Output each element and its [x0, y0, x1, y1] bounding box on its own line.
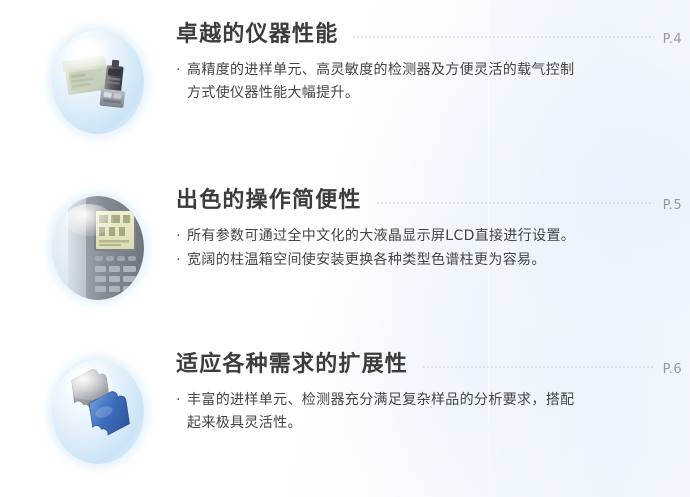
- feature-3-page-ref[interactable]: P.6: [663, 362, 682, 378]
- brochure-feature-list-page: 卓越的仪器性能 P.4 · 高精度的进样单元、高灵敏度的检测器及方便灵活的载气控…: [0, 0, 690, 497]
- list-item: · 所有参数可通过全中文化的大液晶显示屏LCD直接进行设置。: [176, 225, 682, 248]
- dotted-leader: [422, 360, 654, 374]
- feature-3-icon: [52, 360, 144, 464]
- bullet-line-1: 宽阔的柱温箱空间使安装更换各种类型色谱柱更为容易。: [187, 249, 682, 272]
- feature-1-bullets: · 高精度的进样单元、高灵敏度的检测器及方便灵活的载气控制 方式使仪器性能大幅提…: [176, 59, 682, 104]
- list-item: · 高精度的进样单元、高灵敏度的检测器及方便灵活的载气控制 方式使仪器性能大幅提…: [176, 59, 682, 104]
- icon-bubble: [52, 30, 144, 134]
- feature-1-heading-row: 卓越的仪器性能 P.4: [176, 22, 682, 48]
- feature-3-bullets: · 丰富的进样单元、检测器充分满足复杂样品的分析要求，搭配 起来极具灵活性。: [176, 389, 682, 434]
- bullet-marker: ·: [176, 59, 181, 82]
- feature-2-content: 出色的操作简便性 P.5 · 所有参数可通过全中文化的大液晶显示屏LCD直接进行…: [176, 188, 682, 273]
- feature-2-bullets: · 所有参数可通过全中文化的大液晶显示屏LCD直接进行设置。 · 宽阔的柱温箱空…: [176, 225, 682, 271]
- bullet-line-1: 丰富的进样单元、检测器充分满足复杂样品的分析要求，搭配: [187, 389, 682, 412]
- feature-2-heading-row: 出色的操作简便性 P.5: [176, 188, 682, 214]
- bullet-marker: ·: [176, 249, 181, 272]
- instrument-parts-photo-icon: [52, 30, 144, 134]
- list-item: · 丰富的进样单元、检测器充分满足复杂样品的分析要求，搭配 起来极具灵活性。: [176, 389, 682, 434]
- bullet-marker: ·: [176, 225, 181, 248]
- feature-3-content: 适应各种需求的扩展性 P.6 · 丰富的进样单元、检测器充分满足复杂样品的分析要…: [176, 352, 682, 436]
- bullet-line-1: 所有参数可通过全中文化的大液晶显示屏LCD直接进行设置。: [187, 225, 682, 248]
- feature-2-page-ref[interactable]: P.5: [663, 198, 682, 214]
- list-item: · 宽阔的柱温箱空间使安装更换各种类型色谱柱更为容易。: [176, 249, 682, 272]
- feature-1-page-ref[interactable]: P.4: [663, 32, 682, 48]
- feature-3-heading-row: 适应各种需求的扩展性 P.6: [176, 352, 682, 378]
- bullet-marker: ·: [176, 389, 181, 412]
- feature-3-title: 适应各种需求的扩展性: [176, 352, 408, 378]
- puzzle-pieces-photo-icon: [52, 360, 144, 464]
- dotted-leader: [376, 196, 654, 210]
- feature-2-title: 出色的操作简便性: [176, 188, 362, 214]
- feature-1-icon: [52, 30, 144, 134]
- icon-bubble: [52, 196, 144, 300]
- control-panel-lcd-photo-icon: [52, 196, 144, 300]
- dotted-leader: [352, 30, 653, 44]
- feature-1-title: 卓越的仪器性能: [176, 22, 338, 48]
- feature-1-content: 卓越的仪器性能 P.4 · 高精度的进样单元、高灵敏度的检测器及方便灵活的载气控…: [176, 22, 682, 106]
- feature-2-icon: [52, 196, 144, 300]
- icon-bubble: [52, 360, 144, 464]
- bullet-line-2: 方式使仪器性能大幅提升。: [187, 82, 682, 105]
- bullet-line-2: 起来极具灵活性。: [187, 412, 682, 435]
- bullet-line-1: 高精度的进样单元、高灵敏度的检测器及方便灵活的载气控制: [187, 59, 682, 82]
